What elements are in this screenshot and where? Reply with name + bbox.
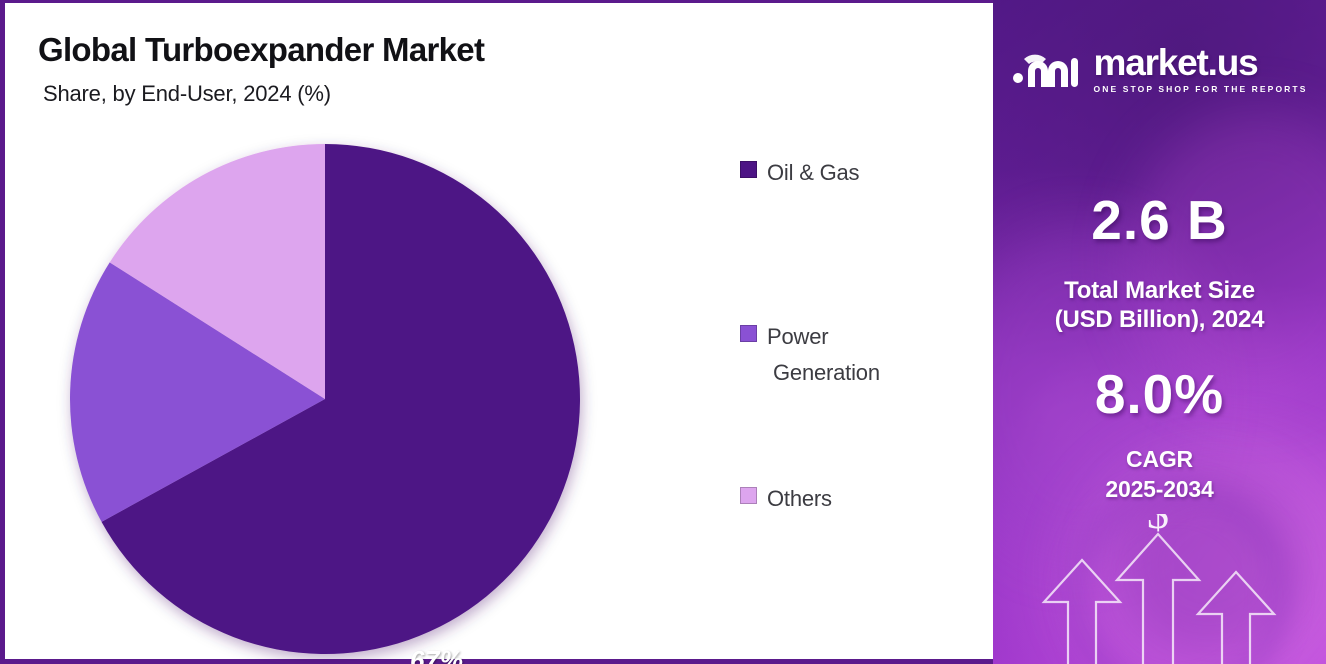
page-title: Global Turboexpander Market: [38, 31, 484, 69]
pie-chart-svg: [67, 141, 583, 657]
legend-swatch-oil-and-gas: [740, 161, 757, 178]
legend-label-power-generation: Power Generation: [767, 319, 880, 391]
dollar-sign-icon: $: [1147, 514, 1169, 538]
chart-subtitle: Share, by End-User, 2024 (%): [43, 81, 484, 107]
chart-panel: Global Turboexpander Market Share, by En…: [0, 0, 993, 664]
pie-slice-label-oil-and-gas: 67%: [410, 645, 464, 664]
stat-caption-cagr: CAGR 2025-2034: [993, 444, 1326, 504]
up-arrow-icon: [1117, 534, 1199, 664]
market-us-logo-mark-icon: [1012, 47, 1084, 91]
pie-chart: 67%: [67, 141, 583, 657]
legend-swatch-others: [740, 487, 757, 504]
brand-logo-text: market.us ONE STOP SHOP FOR THE REPORTS: [1094, 44, 1308, 94]
chart-legend: Oil & Gas Power Generation Others: [740, 155, 980, 517]
legend-item-others[interactable]: Others: [740, 481, 980, 517]
brand-tagline: ONE STOP SHOP FOR THE REPORTS: [1094, 85, 1308, 94]
legend-label-others: Others: [767, 481, 832, 517]
up-arrow-icon: [1198, 572, 1274, 664]
stat-value-market-size: 2.6 B: [993, 188, 1326, 252]
stat-value-cagr: 8.0%: [993, 362, 1326, 426]
brand-logo[interactable]: market.us ONE STOP SHOP FOR THE REPORTS: [993, 44, 1326, 94]
legend-item-power-generation[interactable]: Power Generation: [740, 319, 980, 391]
legend-label-oil-and-gas: Oil & Gas: [767, 155, 859, 191]
infographic-canvas: Global Turboexpander Market Share, by En…: [0, 0, 1326, 664]
growth-arrows-graphic: $: [1010, 514, 1310, 664]
legend-item-oil-and-gas[interactable]: Oil & Gas: [740, 155, 980, 191]
title-block: Global Turboexpander Market Share, by En…: [38, 31, 484, 107]
up-arrow-icon: [1044, 560, 1120, 664]
brand-panel: market.us ONE STOP SHOP FOR THE REPORTS …: [993, 0, 1326, 664]
legend-swatch-power-generation: [740, 325, 757, 342]
brand-wordmark: market.us: [1094, 44, 1308, 81]
stat-caption-market-size: Total Market Size (USD Billion), 2024: [993, 276, 1326, 334]
